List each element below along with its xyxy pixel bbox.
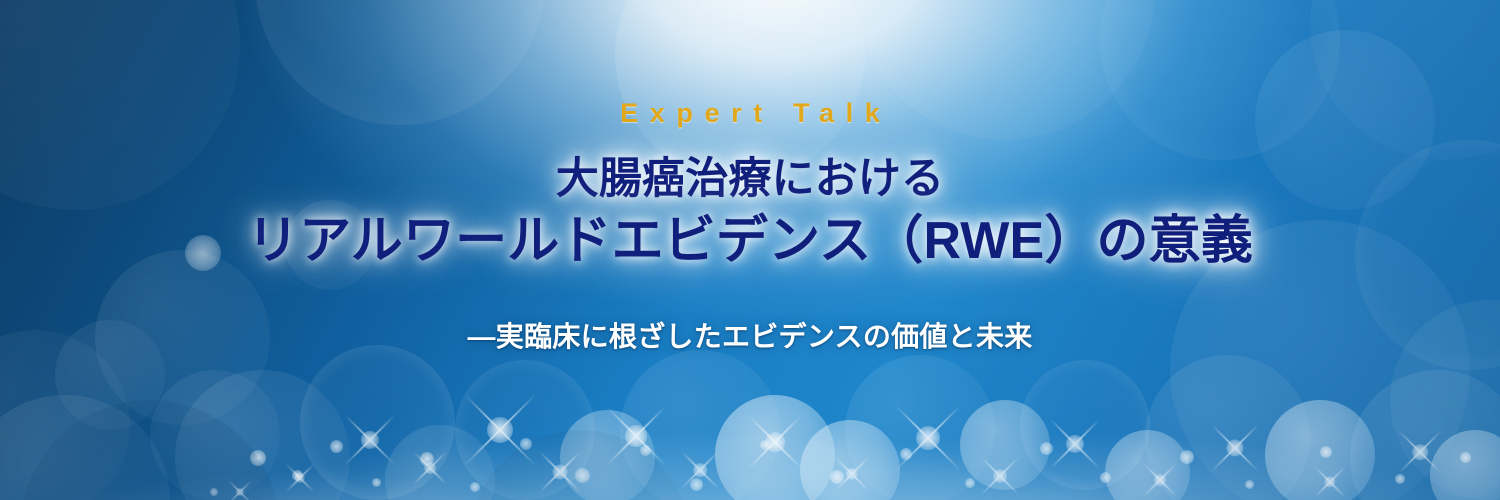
page-title-line-1: 大腸癌治療における xyxy=(247,155,1253,205)
page-title-line-2: リアルワールドエビデンス（RWE）の意義 xyxy=(247,211,1253,271)
banner-content: Expert Talk 大腸癌治療における リアルワールドエビデンス（RWE）の… xyxy=(0,0,1500,500)
eyebrow-label: Expert Talk xyxy=(609,100,892,127)
page-subtitle: —実臨床に根ざしたエビデンスの価値と未来 xyxy=(467,315,1032,355)
expert-talk-banner: Expert Talk 大腸癌治療における リアルワールドエビデンス（RWE）の… xyxy=(0,0,1500,500)
page-title: 大腸癌治療における リアルワールドエビデンス（RWE）の意義 xyxy=(247,155,1253,271)
